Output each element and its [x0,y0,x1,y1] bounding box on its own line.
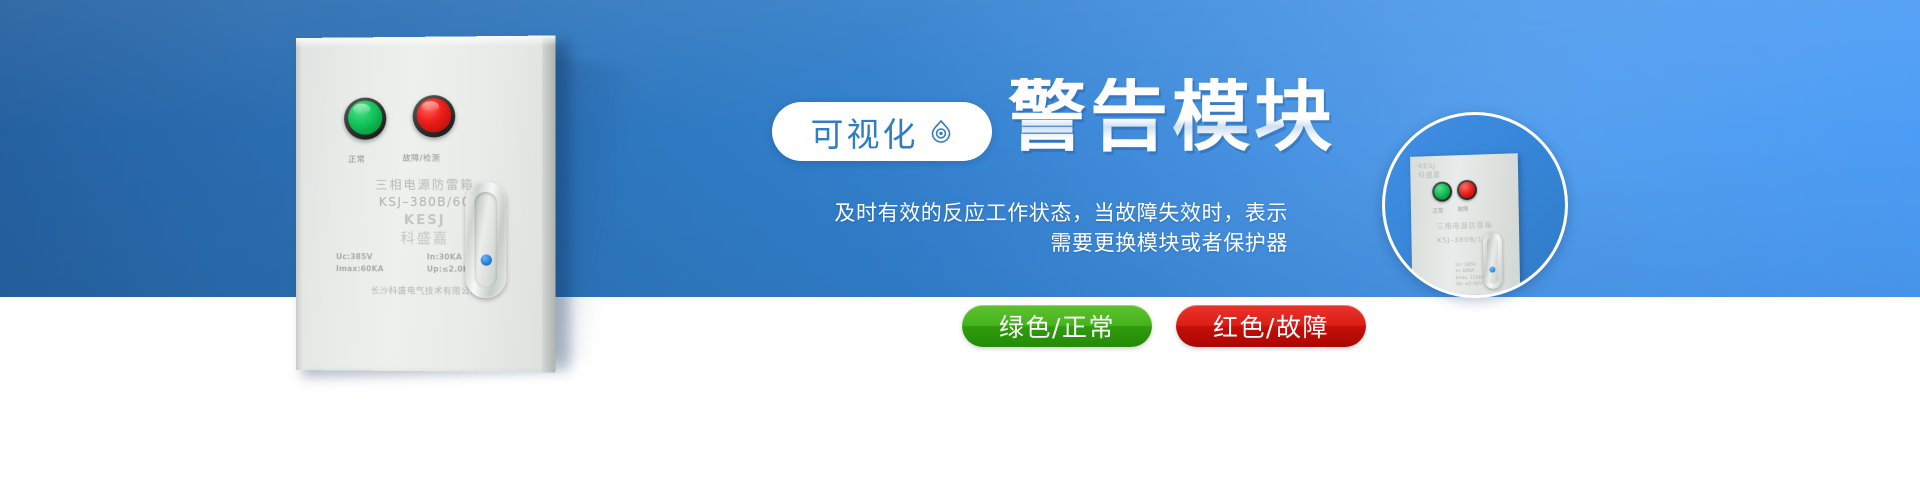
status-badge-normal[interactable]: 绿色/正常 [962,305,1152,347]
subtitle-line-1: 及时有效的反应工作状态，当故障失效时，表示 [834,198,1288,228]
banner-subtitle: 及时有效的反应工作状态，当故障失效时，表示 需要更换模块或者保护器 [834,198,1288,258]
inset-door-handle-lock-icon [1483,232,1503,289]
inset-brand-cn: 科盛嘉 [1418,171,1440,181]
spec-uc: Uc:385V [336,252,427,261]
enclosure-top-highlight [296,35,556,48]
inset-spec-list: Uc: 385V In: 60KA Imax: 120KA Up: ≤2.0KV [1455,263,1485,289]
panel-product-name: 三相电源防雷箱 [296,176,556,193]
panel-model: KSJ–380B/60 [296,195,556,209]
inset-product-name: 三相电源防雷箱 [1411,220,1519,232]
visualization-badge-label: 可视化 [811,108,919,156]
inset-green-indicator-lamp [1432,181,1452,201]
status-badge-normal-label: 绿色/正常 [999,308,1115,344]
inset-enclosure-box: KESJ 科盛嘉 正常 故障 三相电源防雷箱 KSJ–380B/120 Uc: … [1410,153,1521,298]
green-lamp-label: 正常 [348,154,365,165]
status-badge-fault[interactable]: 红色/故障 [1176,305,1366,347]
inset-red-indicator-lamp [1457,180,1477,201]
inset-brand: KESJ 科盛嘉 [1418,162,1440,181]
banner-title: 警告模块 [1008,78,1336,156]
product-photo-main: 正常 故障/检测 三相电源防雷箱 KSJ–380B/60 KESJ 科盛嘉 Uc… [256,0,686,500]
handle-keyhole [481,255,492,266]
visualization-badge: 可视化 [772,102,992,161]
inset-red-lamp-label: 故障 [1457,205,1468,213]
red-indicator-lamp [413,95,456,138]
handle-slot [1487,237,1499,283]
panel-brand-en: KESJ [296,213,556,228]
panel-company: 长沙科盛电气技术有限公司 [296,284,556,297]
spec-imax: Imax:60KA [336,264,427,273]
inset-green-lamp-label: 正常 [1433,207,1444,215]
inset-model: KSJ–380B/120 [1411,235,1519,245]
eye-diamond-icon [928,119,954,145]
inset-spec-up: Up: ≤2.0KV [1456,282,1485,289]
subtitle-line-2: 需要更换模块或者保护器 [834,228,1288,258]
lamp-gloss [353,104,370,115]
promo-banner: 正常 故障/检测 三相电源防雷箱 KSJ–380B/60 KESJ 科盛嘉 Uc… [0,0,1920,500]
green-indicator-lamp [344,97,386,139]
panel-brand-cn: 科盛嘉 [296,228,556,249]
product-photo-inset: KESJ 科盛嘉 正常 故障 三相电源防雷箱 KSJ–380B/120 Uc: … [1382,112,1568,298]
status-badge-fault-label: 红色/故障 [1213,308,1329,344]
door-handle-lock-icon [465,182,506,298]
handle-keyhole [1489,267,1495,273]
enclosure-box: 正常 故障/检测 三相电源防雷箱 KSJ–380B/60 KESJ 科盛嘉 Uc… [296,35,556,372]
lamp-gloss [422,101,439,112]
status-badge-row: 绿色/正常 红色/故障 [962,305,1366,347]
handle-slot [475,192,497,288]
red-lamp-label: 故障/检测 [403,153,441,164]
